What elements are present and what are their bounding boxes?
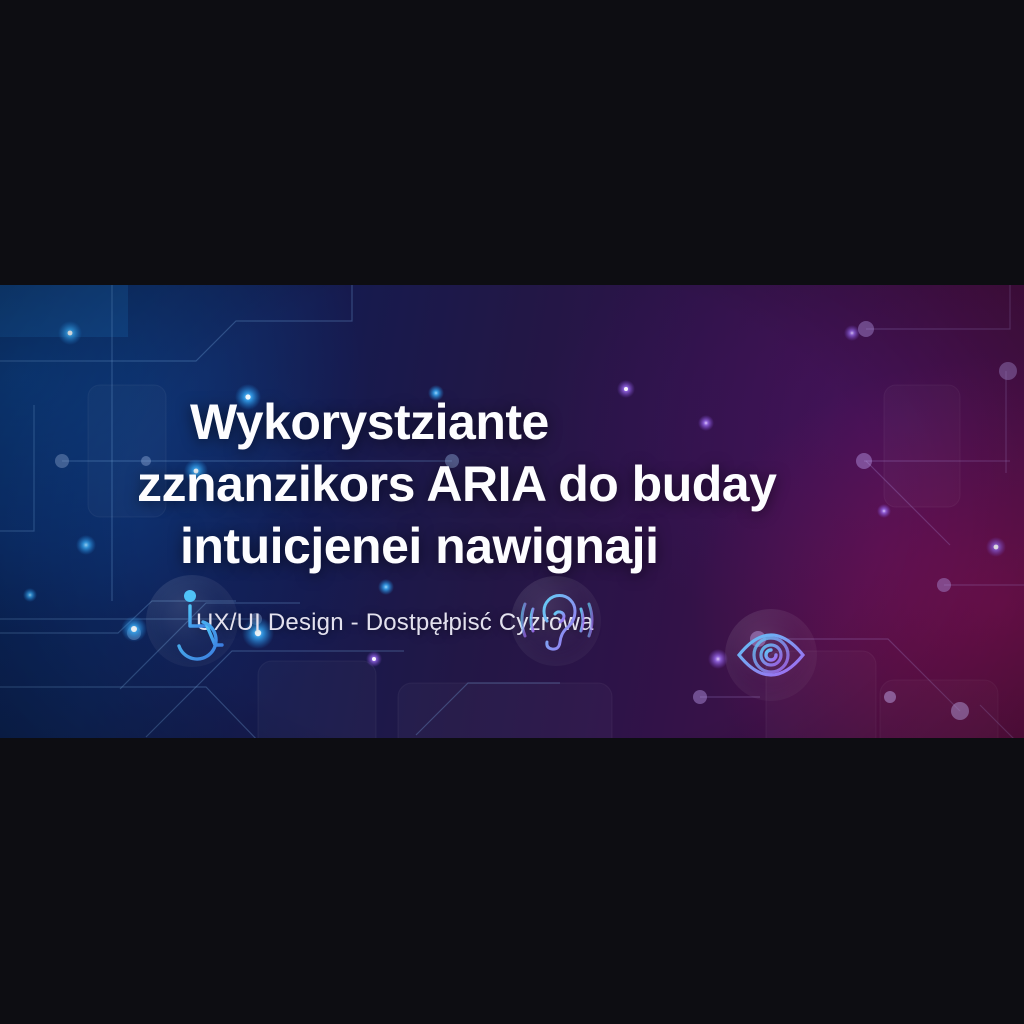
screenshot-canvas: Wykorystziante zznanzikors ARIA do buday… <box>0 0 1024 1024</box>
eye-vision-icon <box>725 609 817 701</box>
headline-line-1: Wykorystziante <box>190 397 549 447</box>
wheelchair-glyph <box>146 575 238 667</box>
wheelchair-accessibility-icon <box>146 575 238 667</box>
accessibility-presentation-banner: Wykorystziante zznanzikors ARIA do buday… <box>0 285 1024 738</box>
ear-hearing-icon <box>511 576 601 666</box>
ear-glyph <box>511 576 601 666</box>
hero-text-block: Wykorystziante zznanzikors ARIA do buday… <box>0 285 1024 738</box>
eye-glyph <box>725 609 817 701</box>
headline-line-3: intuicjenei nawignaji <box>180 521 658 571</box>
headline-line-2: zznanzikors ARIA do buday <box>137 459 776 509</box>
